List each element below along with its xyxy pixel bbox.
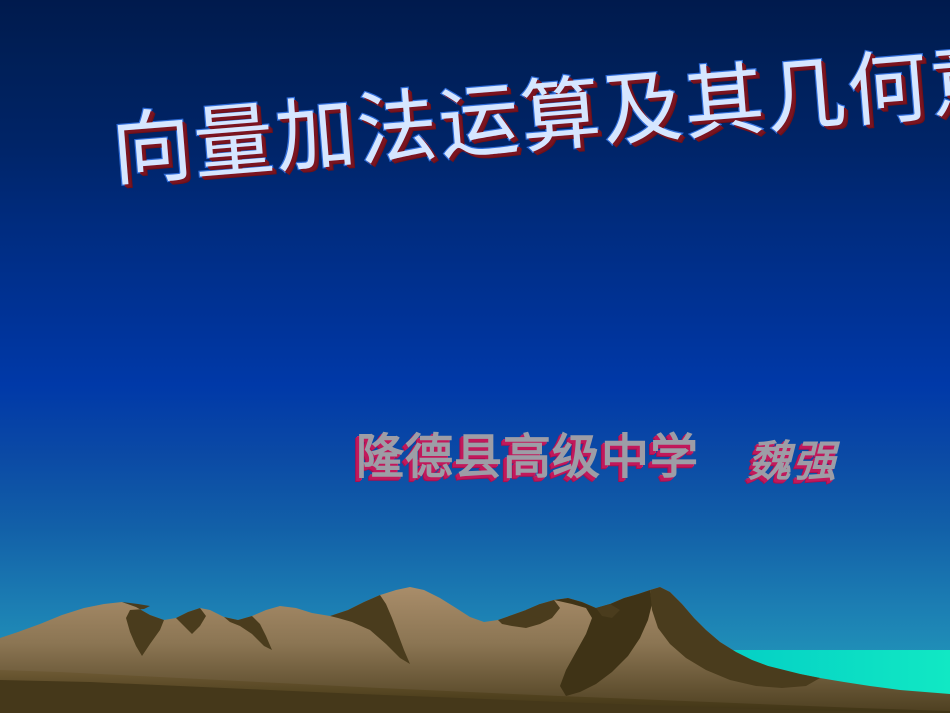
presentation-slide: 向量加法运算及其几何意义 隆德县高级中学 魏强 <box>0 0 950 713</box>
slide-title: 向量加法运算及其几何意义 <box>109 56 813 192</box>
mountain-range-graphic <box>0 560 950 713</box>
school-name-text: 隆德县高级中学 <box>356 432 699 482</box>
author-name-text: 魏强 <box>748 440 838 485</box>
slide-title-container: 向量加法运算及其几何意义 <box>109 56 813 192</box>
mountain-svg <box>0 560 950 713</box>
